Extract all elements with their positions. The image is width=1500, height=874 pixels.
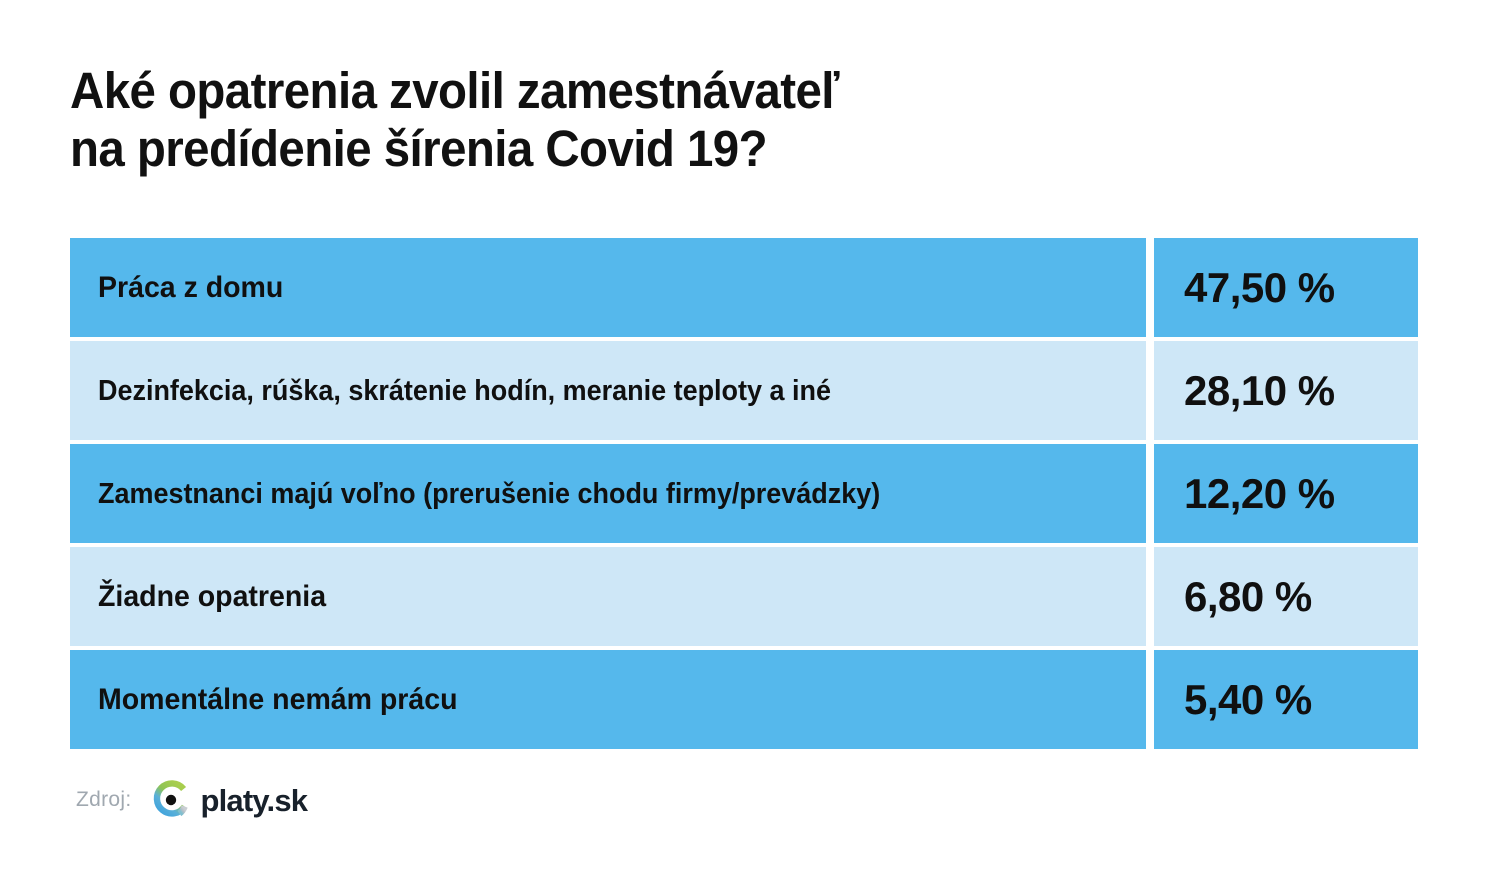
percentage-value: 28,10 % [1184,368,1335,414]
table-cell-label: Dezinfekcia, rúška, skrátenie hodín, mer… [70,341,1146,440]
logo-wordmark: platy.sk [200,785,307,816]
title-line-1: Aké opatrenia zvolil zamestnávateľ [70,62,1000,120]
table-cell-label: Zamestnanci majú voľno (prerušenie chodu… [70,444,1146,543]
option-label: Žiadne opatrenia [98,580,326,614]
infographic-canvas: Aké opatrenia zvolil zamestnávateľ na pr… [0,0,1500,874]
page-title: Aké opatrenia zvolil zamestnávateľ na pr… [70,62,1070,178]
table-row: Žiadne opatrenia 6,80 % [70,547,1418,646]
column-gap [1146,341,1154,440]
table-cell-value: 5,40 % [1154,650,1418,749]
percentage-value: 12,20 % [1184,471,1335,517]
table-cell-label: Momentálne nemám prácu [70,650,1146,749]
column-gap [1146,444,1154,543]
option-label: Dezinfekcia, rúška, skrátenie hodín, mer… [98,374,831,408]
option-label: Zamestnanci majú voľno (prerušenie chodu… [98,477,880,511]
table-row: Momentálne nemám prácu 5,40 % [70,650,1418,749]
results-table: Práca z domu 47,50 % Dezinfekcia, rúška,… [70,238,1418,749]
table-row: Zamestnanci majú voľno (prerušenie chodu… [70,444,1418,543]
source-footer: Zdroj: [76,778,307,822]
table-row: Dezinfekcia, rúška, skrátenie hodín, mer… [70,341,1418,440]
table-cell-label: Práca z domu [70,238,1146,337]
option-label: Momentálne nemám prácu [98,683,458,717]
table-cell-label: Žiadne opatrenia [70,547,1146,646]
column-gap [1146,650,1154,749]
column-gap [1146,238,1154,337]
percentage-value: 6,80 % [1184,574,1312,620]
option-label: Práca z domu [98,271,283,305]
table-cell-value: 12,20 % [1154,444,1418,543]
percentage-value: 5,40 % [1184,677,1312,723]
table-cell-value: 28,10 % [1154,341,1418,440]
table-cell-value: 6,80 % [1154,547,1418,646]
table-row: Práca z domu 47,50 % [70,238,1418,337]
title-line-2: na predídenie šírenia Covid 19? [70,120,1000,178]
column-gap [1146,547,1154,646]
table-cell-value: 47,50 % [1154,238,1418,337]
percentage-value: 47,50 % [1184,265,1335,311]
source-label: Zdroj: [76,788,131,812]
platy-sk-logo[interactable]: platy.sk [149,778,307,822]
platy-ring-icon [149,778,193,822]
